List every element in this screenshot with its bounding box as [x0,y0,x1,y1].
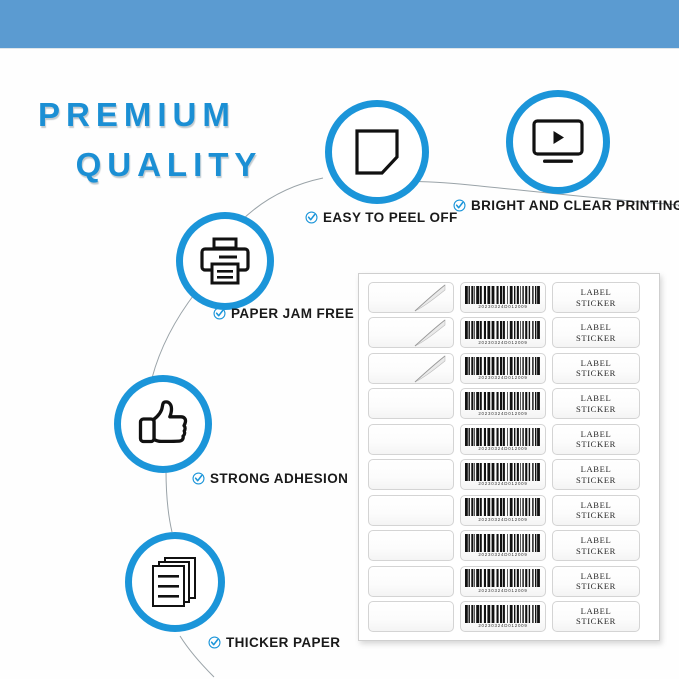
sticker-text-line-1: LABEL [581,535,612,546]
sticker-text-line-1: LABEL [581,429,612,440]
thumbs-up-icon [135,398,191,450]
paper-stack-icon [146,554,204,610]
label-sheet-row: 20230324D012009LABELSTICKER [368,353,650,384]
page-title: PREMIUM QUALITY [38,90,318,190]
printer-icon [198,236,252,286]
barcode-label-cell[interactable]: 20230324D012009 [460,353,546,384]
label-sheet: 20230324D012009LABELSTICKER20230324D0120… [358,273,660,641]
feature-label-strong-adhesion: STRONG ADHESION [192,471,348,486]
barcode-number: 20230324D012009 [478,375,527,380]
barcode-label-cell[interactable]: 20230324D012009 [460,601,546,632]
text-label-cell[interactable]: LABELSTICKER [552,601,640,632]
label-sheet-row: 20230324D012009LABELSTICKER [368,282,650,313]
feature-label-text: EASY TO PEEL OFF [323,210,458,225]
sticker-text-line-2: STICKER [576,581,616,592]
header-band-divider [0,48,679,49]
blank-label-cell[interactable] [368,601,454,632]
label-sheet-row: 20230324D012009LABELSTICKER [368,530,650,561]
blank-label-cell[interactable] [368,495,454,526]
text-label-cell[interactable]: LABELSTICKER [552,424,640,455]
label-sheet-row: 20230324D012009LABELSTICKER [368,601,650,632]
text-label-cell[interactable]: LABELSTICKER [552,353,640,384]
barcode-label-cell[interactable]: 20230324D012009 [460,388,546,419]
barcode-label-cell[interactable]: 20230324D012009 [460,317,546,348]
blank-label-cell[interactable] [368,459,454,490]
sticker-text-line-2: STICKER [576,404,616,415]
blank-label-cell[interactable] [368,282,454,313]
blank-label-cell[interactable] [368,424,454,455]
feature-label-paper-jam-free: PAPER JAM FREE [213,306,354,321]
label-sheet-row: 20230324D012009LABELSTICKER [368,424,650,455]
feature-label-easy-to-peel-off: EASY TO PEEL OFF [305,210,458,225]
text-label-cell[interactable]: LABELSTICKER [552,530,640,561]
label-sheet-row: 20230324D012009LABELSTICKER [368,566,650,597]
barcode-label-cell[interactable]: 20230324D012009 [460,530,546,561]
label-sheet-rows: 20230324D012009LABELSTICKER20230324D0120… [368,282,650,632]
label-sheet-row: 20230324D012009LABELSTICKER [368,459,650,490]
barcode-number: 20230324D012009 [478,304,527,309]
sticker-text-line-1: LABEL [581,500,612,511]
sticker-text-line-1: LABEL [581,322,612,333]
blank-label-cell[interactable] [368,388,454,419]
barcode-number: 20230324D012009 [478,552,527,557]
sticker-text-line-1: LABEL [581,393,612,404]
sticker-text-line-2: STICKER [576,439,616,450]
page-title-line-2: QUALITY [38,140,318,190]
page-title-line-1: PREMIUM [38,90,318,140]
label-sheet-row: 20230324D012009LABELSTICKER [368,317,650,348]
blank-label-cell[interactable] [368,530,454,561]
check-circle-icon [305,211,318,224]
sticker-text-line-1: LABEL [581,464,612,475]
label-sheet-row: 20230324D012009LABELSTICKER [368,388,650,419]
feature-icon-strong-adhesion[interactable] [114,375,212,473]
barcode-label-cell[interactable]: 20230324D012009 [460,282,546,313]
text-label-cell[interactable]: LABELSTICKER [552,566,640,597]
sticker-text-line-2: STICKER [576,616,616,627]
text-label-cell[interactable]: LABELSTICKER [552,459,640,490]
sticker-text-line-2: STICKER [576,475,616,486]
feature-icon-paper-jam-free[interactable] [176,212,274,310]
sticker-text-line-1: LABEL [581,287,612,298]
text-label-cell[interactable]: LABELSTICKER [552,495,640,526]
sticker-text-line-1: LABEL [581,358,612,369]
feature-label-text: THICKER PAPER [226,635,340,650]
feature-icon-bright-and-clear-printing[interactable] [506,90,610,194]
sticker-text-line-2: STICKER [576,546,616,557]
barcode-number: 20230324D012009 [478,446,527,451]
feature-label-thicker-paper: THICKER PAPER [208,635,340,650]
product-infographic: PREMIUM QUALITY EASY TO PEEL OFF [0,0,679,679]
peel-corner-graphic [403,354,449,384]
barcode-number: 20230324D012009 [478,623,527,628]
barcode-number: 20230324D012009 [478,481,527,486]
header-band [0,0,679,48]
blank-label-cell[interactable] [368,317,454,348]
monitor-play-icon [529,118,587,166]
sticker-text-line-2: STICKER [576,368,616,379]
barcode-label-cell[interactable]: 20230324D012009 [460,495,546,526]
feature-label-text: BRIGHT AND CLEAR PRINTING [471,198,679,213]
check-circle-icon [208,636,221,649]
barcode-label-cell[interactable]: 20230324D012009 [460,424,546,455]
barcode-number: 20230324D012009 [478,517,527,522]
barcode-number: 20230324D012009 [478,340,527,345]
barcode-number: 20230324D012009 [478,411,527,416]
feature-label-text: PAPER JAM FREE [231,306,354,321]
barcode-number: 20230324D012009 [478,588,527,593]
label-sheet-row: 20230324D012009LABELSTICKER [368,495,650,526]
check-circle-icon [213,307,226,320]
text-label-cell[interactable]: LABELSTICKER [552,317,640,348]
peel-corner-graphic [403,283,449,313]
peel-corner-sticker-icon [351,126,403,178]
text-label-cell[interactable]: LABELSTICKER [552,388,640,419]
feature-label-bright-and-clear-printing: BRIGHT AND CLEAR PRINTING [453,198,679,213]
peel-corner-graphic [403,318,449,348]
barcode-label-cell[interactable]: 20230324D012009 [460,566,546,597]
text-label-cell[interactable]: LABELSTICKER [552,282,640,313]
sticker-text-line-2: STICKER [576,298,616,309]
sticker-text-line-1: LABEL [581,571,612,582]
check-circle-icon [453,199,466,212]
sticker-text-line-2: STICKER [576,333,616,344]
check-circle-icon [192,472,205,485]
sticker-text-line-2: STICKER [576,510,616,521]
blank-label-cell[interactable] [368,353,454,384]
blank-label-cell[interactable] [368,566,454,597]
barcode-label-cell[interactable]: 20230324D012009 [460,459,546,490]
feature-icon-easy-to-peel-off[interactable] [325,100,429,204]
feature-icon-thicker-paper[interactable] [125,532,225,632]
sticker-text-line-1: LABEL [581,606,612,617]
feature-label-text: STRONG ADHESION [210,471,348,486]
